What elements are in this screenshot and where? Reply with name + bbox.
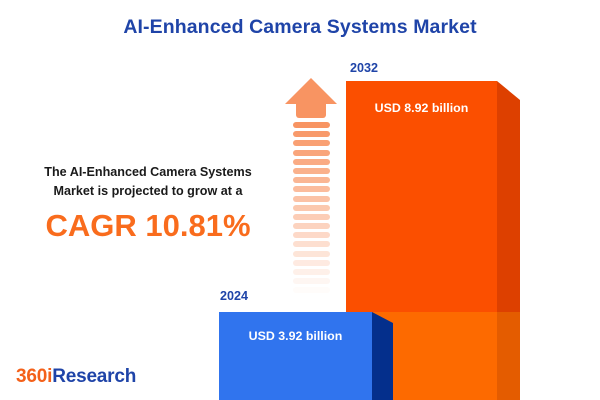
page-title: AI-Enhanced Camera Systems Market: [0, 16, 600, 39]
arrow-stripe: [293, 168, 330, 174]
arrow-neck-icon: [296, 104, 326, 118]
cagr-value: CAGR 10.81%: [16, 205, 280, 247]
market-infographic: AI-Enhanced Camera Systems Market The AI…: [0, 0, 600, 400]
arrow-stripe: [293, 131, 330, 137]
bar-2024-value: USD 3.92 billion: [219, 329, 372, 343]
arrow-stripe: [293, 232, 330, 238]
arrow-stripe: [293, 205, 330, 211]
bar-2032-label: 2032: [350, 61, 378, 75]
callout-line-2: Market is projected to grow at a: [16, 182, 280, 201]
arrow-stripe: [293, 223, 330, 229]
arrow-stripes: [293, 122, 330, 298]
brand-logo-360i: 360i: [16, 366, 52, 387]
arrow-stripe: [293, 140, 330, 146]
arrow-stripe: [293, 150, 330, 156]
bar-2024: USD 3.92 billion: [219, 312, 372, 400]
brand-logo-research: Research: [52, 366, 136, 387]
arrow-stripe: [293, 287, 330, 293]
bar-2024-side: [372, 312, 393, 400]
arrow-stripe: [293, 122, 330, 128]
arrow-stripe: [293, 177, 330, 183]
cagr-callout: The AI-Enhanced Camera Systems Market is…: [16, 163, 280, 247]
bar-2024-label: 2024: [220, 289, 248, 303]
bar-2024-front: [219, 312, 372, 400]
arrow-stripe: [293, 196, 330, 202]
arrow-stripe: [293, 241, 330, 247]
callout-line-1: The AI-Enhanced Camera Systems: [16, 163, 280, 182]
arrow-stripe: [293, 278, 330, 284]
arrow-stripe: [293, 214, 330, 220]
brand-logo[interactable]: 360iResearch: [16, 366, 136, 388]
bar-2032-value: USD 8.92 billion: [346, 101, 497, 115]
arrow-head-icon: [285, 78, 337, 104]
bar-2032-overlap-side: [497, 312, 520, 400]
arrow-stripe: [293, 159, 330, 165]
arrow-stripe: [293, 260, 330, 266]
arrow-stripe: [293, 251, 330, 257]
arrow-stripe: [293, 269, 330, 275]
arrow-stripe: [293, 186, 330, 192]
up-arrow-icon: [285, 78, 337, 298]
